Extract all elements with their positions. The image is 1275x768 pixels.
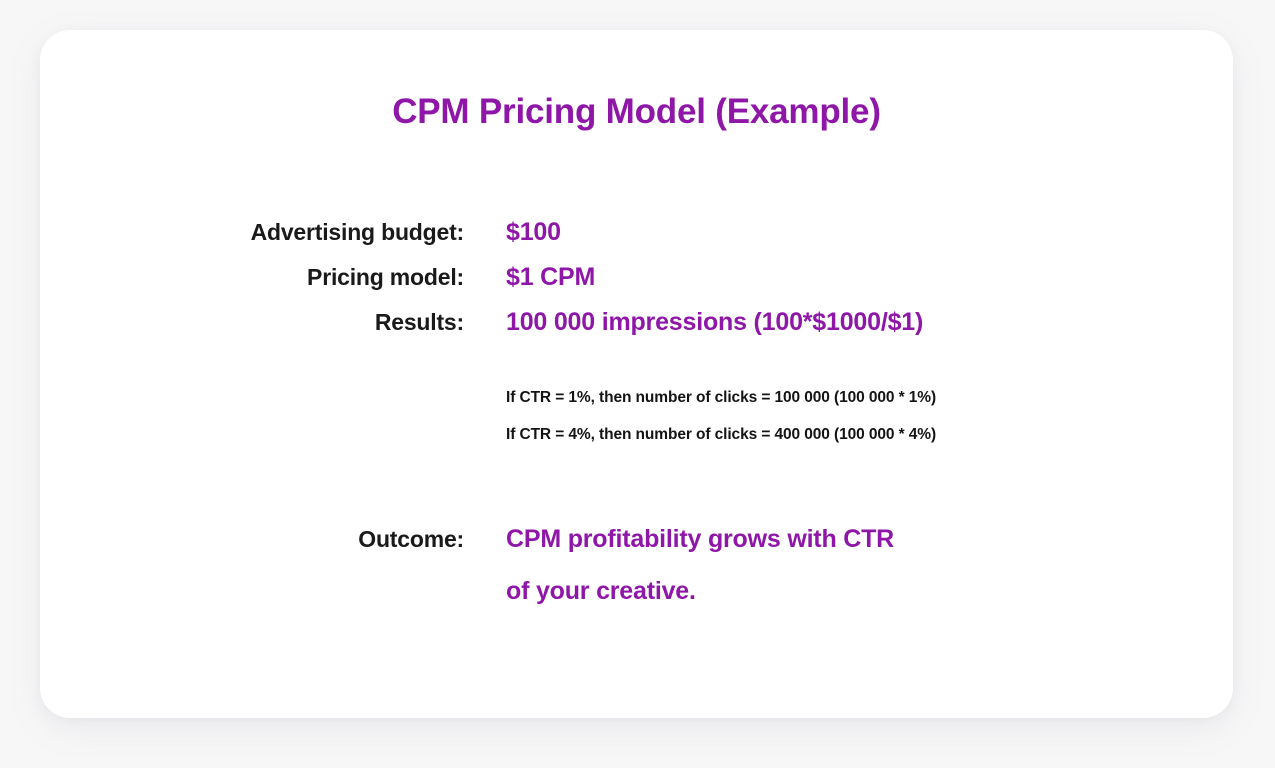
detail-row-advertising-budget: Advertising budget: $100	[40, 218, 1233, 247]
detail-value-pricing-model: $1 CPM	[464, 263, 595, 292]
detail-value-results: 100 000 impressions (100*$1000/$1)	[464, 308, 923, 337]
page-title: CPM Pricing Model (Example)	[40, 92, 1233, 132]
page-root: CPM Pricing Model (Example) Advertising …	[0, 0, 1275, 768]
detail-label-outcome: Outcome:	[40, 526, 464, 553]
outcome-value-line-1: CPM profitability grows with CTR	[506, 513, 894, 565]
ctr-note-line-1: If CTR = 1%, then number of clicks = 100…	[506, 379, 1233, 416]
detail-row-pricing-model: Pricing model: $1 CPM	[40, 263, 1233, 292]
detail-row-results: Results: 100 000 impressions (100*$1000/…	[40, 308, 1233, 337]
detail-value-advertising-budget: $100	[464, 218, 561, 247]
detail-value-outcome: CPM profitability grows with CTR of your…	[464, 513, 894, 617]
pricing-details-list: Advertising budget: $100 Pricing model: …	[40, 218, 1233, 617]
detail-label-pricing-model: Pricing model:	[40, 264, 464, 291]
cpm-pricing-card: CPM Pricing Model (Example) Advertising …	[40, 30, 1233, 718]
detail-label-advertising-budget: Advertising budget:	[40, 219, 464, 246]
ctr-notes-group: If CTR = 1%, then number of clicks = 100…	[40, 379, 1233, 453]
outcome-value-line-2: of your creative.	[506, 565, 894, 617]
detail-row-outcome: Outcome: CPM profitability grows with CT…	[40, 513, 1233, 617]
detail-label-results: Results:	[40, 309, 464, 336]
ctr-note-line-2: If CTR = 4%, then number of clicks = 400…	[506, 416, 1233, 453]
